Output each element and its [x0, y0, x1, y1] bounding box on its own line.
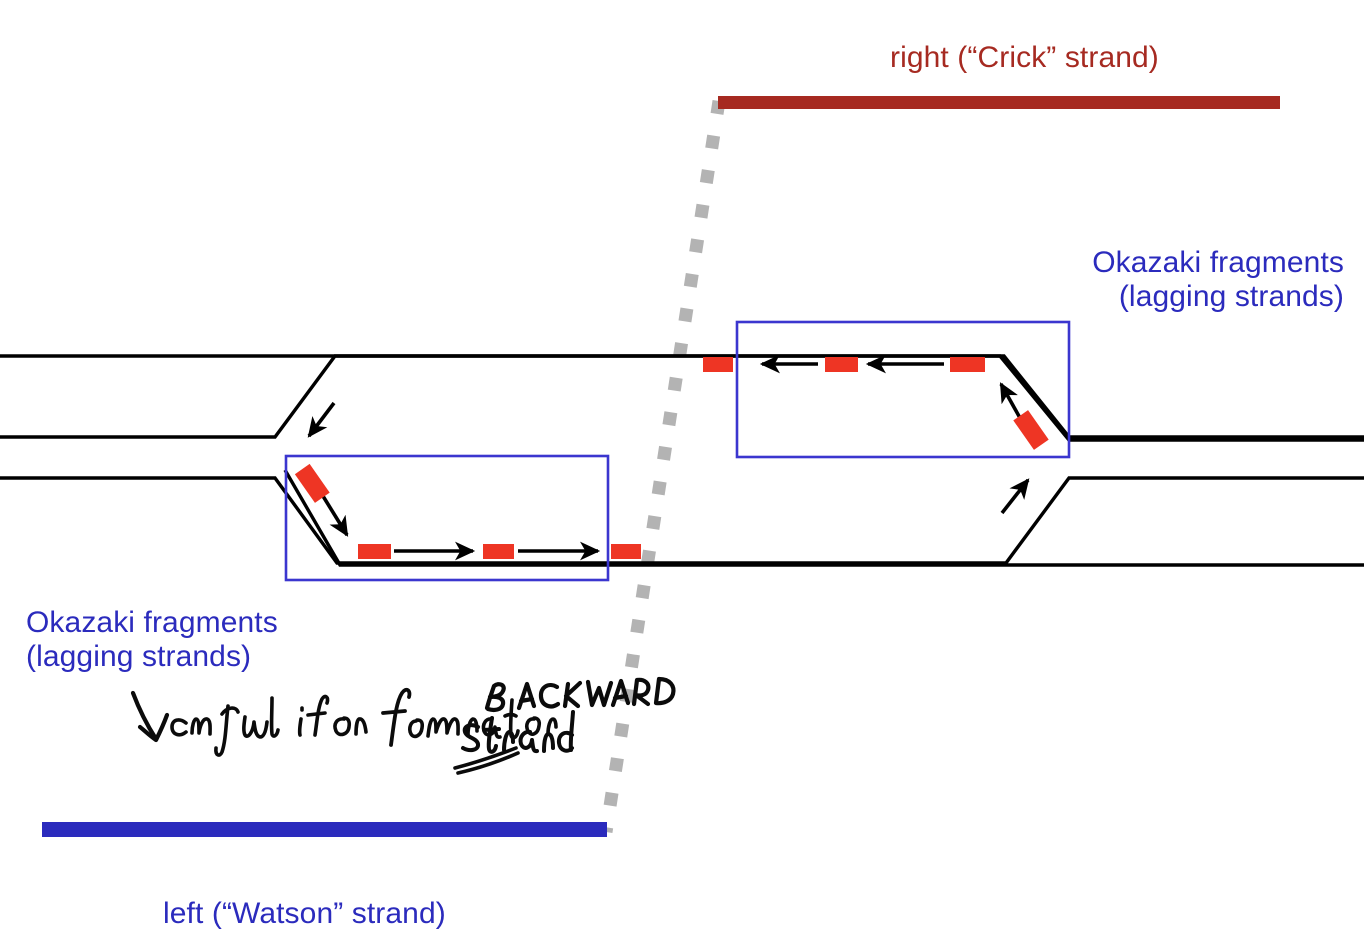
- okazaki-fragment: [703, 357, 733, 372]
- watson-strand-label: left (“Watson” strand): [163, 897, 446, 930]
- okazaki-fragment: [825, 357, 858, 372]
- okazaki-fragment: [358, 544, 391, 559]
- dashed-mapping-line: [606, 101, 719, 832]
- strand-upper-left-horizontal: [0, 356, 1364, 437]
- handwritten-annotation: [133, 679, 673, 773]
- okazaki-label-top-line2: (lagging strands): [1119, 280, 1344, 313]
- okazaki-label-bottom-line2: (lagging strands): [26, 640, 251, 673]
- diagram-canvas: right (“Crick” strand) left (“Watson” st…: [0, 0, 1364, 952]
- okazaki-box-right: [737, 322, 1069, 457]
- fork-arrow-lower-right: [1002, 480, 1028, 513]
- strand-right-bubble-inner: [0, 356, 1364, 440]
- crick-strand-label: right (“Crick” strand): [890, 41, 1159, 74]
- strand-lower-left-horizontal: [0, 478, 1364, 563]
- okazaki-fragment: [950, 357, 985, 372]
- okazaki-label-bottom-line1: Okazaki fragments: [26, 606, 278, 639]
- watson-strand-bar: [42, 822, 607, 837]
- okazaki-label-top-line1: Okazaki fragments: [1092, 246, 1344, 279]
- crick-strand-bar: [718, 96, 1280, 109]
- okazaki-fragment: [483, 544, 514, 559]
- okazaki-fragment: [611, 544, 641, 559]
- fork-arrow-upper-left: [309, 403, 334, 436]
